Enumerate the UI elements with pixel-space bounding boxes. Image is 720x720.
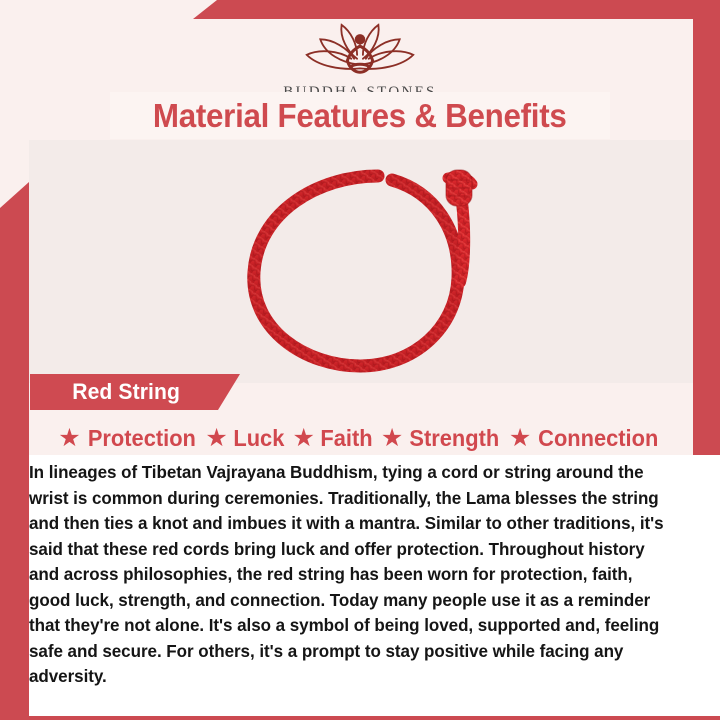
benefit-item-faith: ★ Faith [292, 425, 373, 452]
benefit-label: Luck [233, 425, 284, 452]
benefit-item-protection: ★ Protection [58, 425, 198, 452]
decorative-bar-top [193, 0, 720, 19]
benefit-label: Protection [87, 425, 195, 452]
product-label: Red String [72, 379, 180, 405]
page-title: Material Features & Benefits [153, 97, 567, 135]
description-text: In lineages of Tibetan Vajrayana Buddhis… [29, 460, 673, 690]
star-icon: ★ [205, 426, 227, 451]
braided-cord-illustration-icon [210, 150, 510, 390]
product-label-banner: Red String [30, 374, 240, 410]
infographic-page: BUDDHA STONES Material Features & Benefi… [0, 0, 720, 720]
title-banner: Material Features & Benefits [110, 92, 610, 139]
star-icon: ★ [381, 426, 403, 451]
brand-logo: BUDDHA STONES [0, 20, 720, 101]
benefit-label: Connection [538, 425, 658, 452]
product-image-red-string-bracelet [210, 150, 510, 390]
decorative-bar-bottom [0, 716, 720, 720]
decorative-bar-left [0, 182, 29, 720]
star-icon: ★ [509, 426, 531, 451]
benefit-label: Strength [410, 425, 500, 452]
benefits-row: ★ Protection ★ Luck ★ Faith ★ Strength ★… [29, 420, 691, 456]
star-icon: ★ [58, 426, 80, 451]
benefit-label: Faith [320, 425, 372, 452]
star-icon: ★ [292, 426, 314, 451]
adjustable-sliding-knot-icon [446, 170, 472, 206]
benefit-item-strength: ★ Strength [381, 425, 502, 452]
benefit-item-luck: ★ Luck [205, 425, 285, 452]
benefit-item-connection: ★ Connection [509, 425, 662, 452]
lotus-meditation-figure-icon [301, 20, 419, 80]
description-block: In lineages of Tibetan Vajrayana Buddhis… [29, 460, 701, 690]
